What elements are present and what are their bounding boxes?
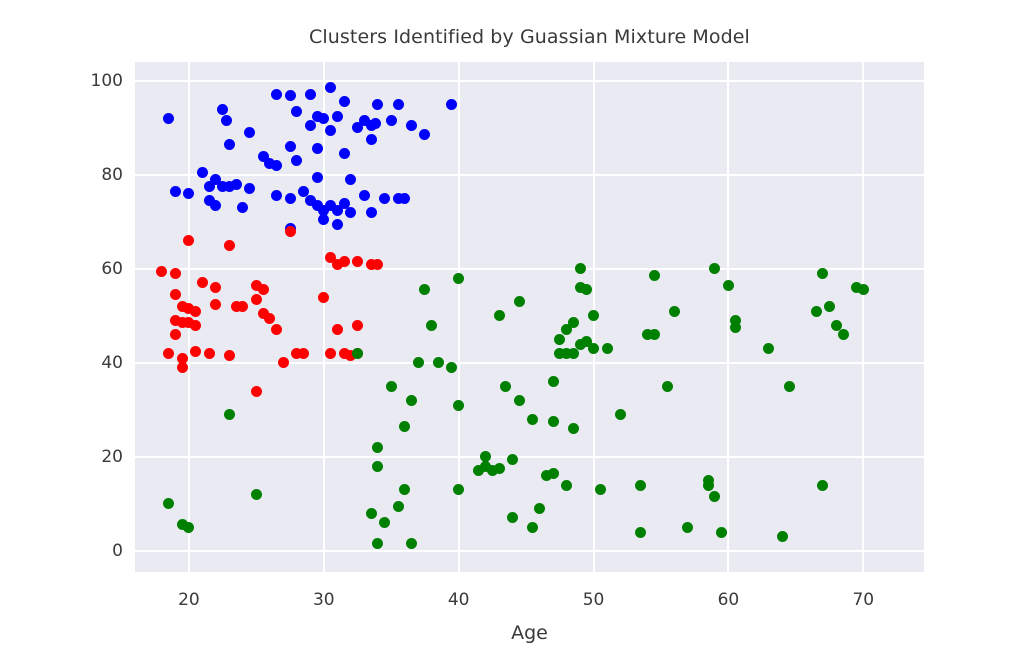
data-point [291,155,302,166]
data-point [305,89,316,100]
data-point [446,99,457,110]
data-point [170,268,181,279]
data-point [817,480,828,491]
data-point [197,167,208,178]
data-point [514,395,525,406]
data-point [278,357,289,368]
data-point [177,362,188,373]
data-point [183,522,194,533]
data-point [527,522,538,533]
data-point [817,268,828,279]
x-tick-label: 30 [313,590,335,610]
data-point [386,381,397,392]
data-point [406,395,417,406]
data-point [352,320,363,331]
data-point [453,273,464,284]
data-point [372,538,383,549]
gridline-vertical [323,62,325,572]
data-point [352,256,363,267]
data-point [183,235,194,246]
data-point [366,120,377,131]
data-point [190,306,201,317]
data-point [615,409,626,420]
data-point [548,376,559,387]
data-point [500,381,511,392]
data-point [163,113,174,124]
data-point [372,99,383,110]
data-point [156,266,167,277]
data-point [669,306,680,317]
data-point [231,179,242,190]
y-tick-label: 40 [63,353,123,373]
data-point [271,190,282,201]
y-tick-label: 80 [63,165,123,185]
data-point [210,200,221,211]
data-point [406,538,417,549]
gridline-horizontal [135,268,924,270]
data-point [170,289,181,300]
data-point [602,343,613,354]
data-point [285,193,296,204]
data-point [399,484,410,495]
data-point [190,320,201,331]
gridline-vertical [727,62,729,572]
data-point [271,324,282,335]
gridline-horizontal [135,174,924,176]
x-axis-label: Age [135,622,924,644]
data-point [561,480,572,491]
data-point [285,226,296,237]
data-point [386,115,397,126]
scatter-plot-figure: Clusters Identified by Guassian Mixture … [0,0,1012,662]
data-point [372,442,383,453]
data-point [433,357,444,368]
data-point [352,348,363,359]
data-point [413,357,424,368]
data-point [237,301,248,312]
data-point [325,82,336,93]
y-tick-label: 20 [63,447,123,467]
data-point [838,329,849,340]
gridline-horizontal [135,362,924,364]
plot-area [135,62,924,572]
data-point [163,348,174,359]
data-point [399,421,410,432]
data-point [393,99,404,110]
data-point [325,348,336,359]
data-point [649,270,660,281]
data-point [649,329,660,340]
data-point [709,263,720,274]
data-point [318,113,329,124]
data-point [379,193,390,204]
data-point [703,475,714,486]
data-point [507,512,518,523]
data-point [554,334,565,345]
data-point [291,106,302,117]
data-point [568,348,579,359]
data-point [197,277,208,288]
data-point [406,120,417,131]
data-point [784,381,795,392]
data-point [716,527,727,538]
data-point [527,414,538,425]
data-point [419,284,430,295]
data-point [453,484,464,495]
y-tick-label: 60 [63,259,123,279]
x-tick-label: 60 [718,590,740,610]
data-point [210,299,221,310]
data-point [494,463,505,474]
data-point [372,461,383,472]
data-point [575,263,586,274]
data-point [305,120,316,131]
data-point [581,284,592,295]
data-point [507,454,518,465]
x-tick-label: 50 [583,590,605,610]
gridline-horizontal [135,80,924,82]
data-point [339,256,350,267]
y-tick-label: 0 [63,541,123,561]
data-point [534,503,545,514]
data-point [480,451,491,462]
data-point [393,501,404,512]
data-point [318,214,329,225]
data-point [271,160,282,171]
data-point [210,282,221,293]
y-axis-label: Spending Score (1-100) [0,62,30,572]
data-point [251,489,262,500]
data-point [730,322,741,333]
data-point [682,522,693,533]
data-point [763,343,774,354]
data-point [379,517,390,528]
data-point [244,183,255,194]
y-tick-label: 100 [63,71,123,91]
gridline-horizontal [135,550,924,552]
data-point [709,491,720,502]
x-tick-label: 70 [852,590,874,610]
data-point [366,207,377,218]
data-point [325,125,336,136]
gridline-horizontal [135,456,924,458]
gridline-vertical [458,62,460,572]
data-point [183,188,194,199]
data-point [318,292,329,303]
data-point [366,134,377,145]
data-point [332,219,343,230]
data-point [264,313,275,324]
data-point [588,343,599,354]
data-point [332,111,343,122]
x-tick-label: 40 [448,590,470,610]
data-point [811,306,822,317]
data-point [339,148,350,159]
data-point [339,96,350,107]
data-point [251,386,262,397]
data-point [224,409,235,420]
data-point [588,310,599,321]
data-point [514,296,525,307]
data-point [217,104,228,115]
data-point [548,416,559,427]
data-point [824,301,835,312]
data-point [446,362,457,373]
data-point [635,527,646,538]
data-point [237,202,248,213]
data-point [548,468,559,479]
data-point [224,350,235,361]
data-point [285,141,296,152]
data-point [359,190,370,201]
data-point [312,143,323,154]
page-title: Clusters Identified by Guassian Mixture … [135,26,924,48]
data-point [568,317,579,328]
data-point [399,193,410,204]
data-point [372,259,383,270]
data-point [190,346,201,357]
data-point [858,284,869,295]
data-point [244,127,255,138]
data-point [170,186,181,197]
data-point [595,484,606,495]
data-point [285,90,296,101]
data-point [568,423,579,434]
data-point [221,115,232,126]
data-point [312,172,323,183]
data-point [777,531,788,542]
x-tick-label: 20 [178,590,200,610]
data-point [345,207,356,218]
data-point [204,348,215,359]
data-point [298,348,309,359]
data-point [453,400,464,411]
data-point [426,320,437,331]
data-point [662,381,673,392]
data-point [251,294,262,305]
data-point [366,508,377,519]
gridline-vertical [862,62,864,572]
data-point [224,139,235,150]
data-point [635,480,646,491]
data-point [271,89,282,100]
data-point [224,240,235,251]
data-point [723,280,734,291]
data-point [163,498,174,509]
data-point [419,129,430,140]
data-point [332,324,343,335]
data-point [494,310,505,321]
data-point [170,329,181,340]
data-point [345,174,356,185]
